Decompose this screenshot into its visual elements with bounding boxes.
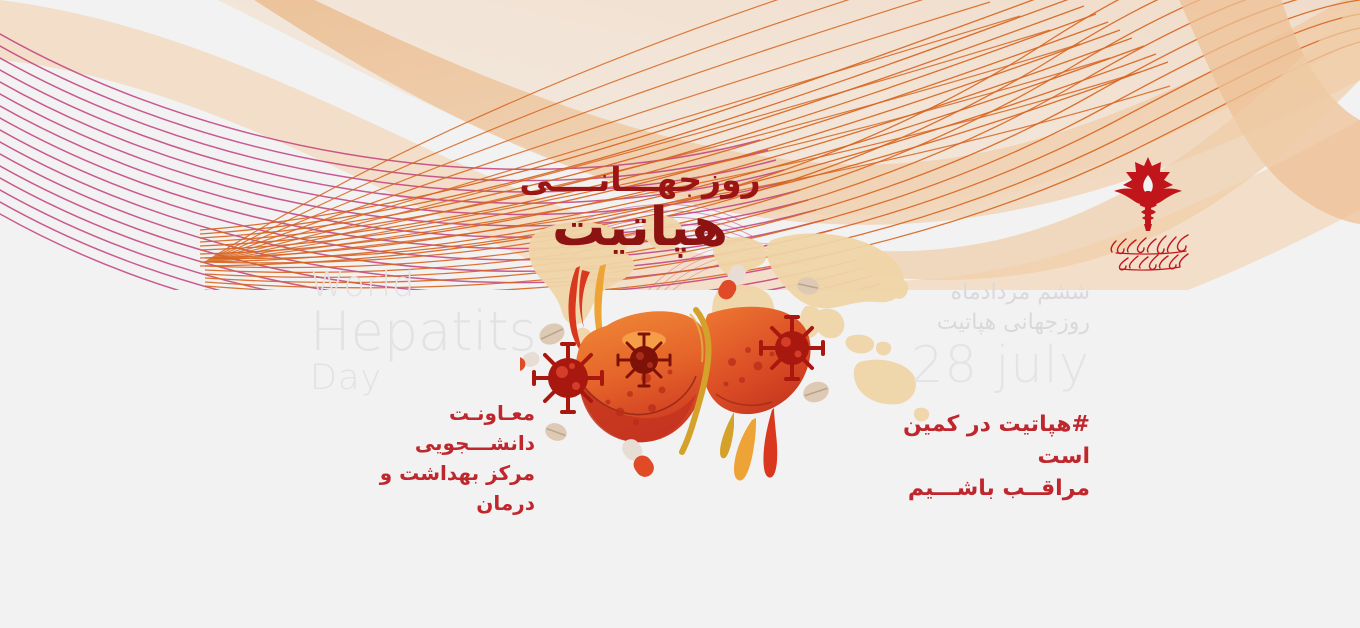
pill-tablet-right bbox=[801, 378, 832, 405]
slogan-line-2: مراقــب باشـــیم bbox=[850, 473, 1090, 505]
capsule-top bbox=[715, 262, 749, 302]
organization-credit-block: معـاونـت دانشـــجویی مرکز بهداشت و درمان bbox=[335, 398, 535, 518]
date-english: 28 july bbox=[830, 339, 1090, 393]
credit-line-2: مرکز بهداشت و درمان bbox=[335, 458, 535, 518]
liver-left-lobe bbox=[576, 311, 709, 442]
english-title-block: World Hepatits Day bbox=[310, 268, 537, 396]
virus-particle-left bbox=[534, 344, 602, 412]
english-title-world: World bbox=[310, 268, 537, 303]
swoosh-group-topleft bbox=[569, 264, 612, 370]
pill-tablet-left bbox=[536, 319, 568, 348]
date-persian-line-1: ششم مردادماه bbox=[830, 278, 1090, 308]
slogan-block: #هپاتیت در کمین است مراقــب باشـــیم bbox=[850, 409, 1090, 505]
english-title-day: Day bbox=[310, 361, 537, 396]
english-title-hepatits: Hepatits bbox=[310, 305, 537, 359]
title-mainline: هپاتیت bbox=[500, 200, 780, 256]
title-subline: روزجهـــانــــی bbox=[500, 163, 780, 198]
date-info-block: ششم مردادماه روزجهانی هپاتیت 28 july bbox=[830, 278, 1090, 393]
credit-line-1: معـاونـت دانشـــجویی bbox=[335, 398, 535, 458]
caduceus-star-wings-icon bbox=[1110, 155, 1186, 233]
decorative-waves-layer bbox=[0, 0, 1360, 628]
bile-duct bbox=[682, 310, 709, 452]
pill-tablet-topright bbox=[795, 275, 820, 296]
liver-illustration bbox=[520, 262, 860, 492]
liver-right-lobe bbox=[701, 307, 810, 414]
logo-caption-calligraphy bbox=[1100, 227, 1196, 271]
banner-root: روزجهـــانــــی هپاتیت World Hepatits Da… bbox=[0, 0, 1360, 628]
main-title-block: روزجهـــانــــی هپاتیت bbox=[500, 163, 780, 255]
swoosh-group-bottomright bbox=[720, 408, 777, 481]
institution-logo bbox=[1100, 155, 1196, 275]
capsule-bottom bbox=[619, 436, 658, 481]
slogan-line-1: #هپاتیت در کمین است bbox=[850, 409, 1090, 473]
virus-particle-center bbox=[618, 334, 670, 386]
date-persian-line-2: روزجهانی هپاتیت bbox=[830, 308, 1090, 338]
virus-particle-right bbox=[761, 317, 823, 379]
pill-tablet-lowerleft bbox=[543, 420, 569, 443]
